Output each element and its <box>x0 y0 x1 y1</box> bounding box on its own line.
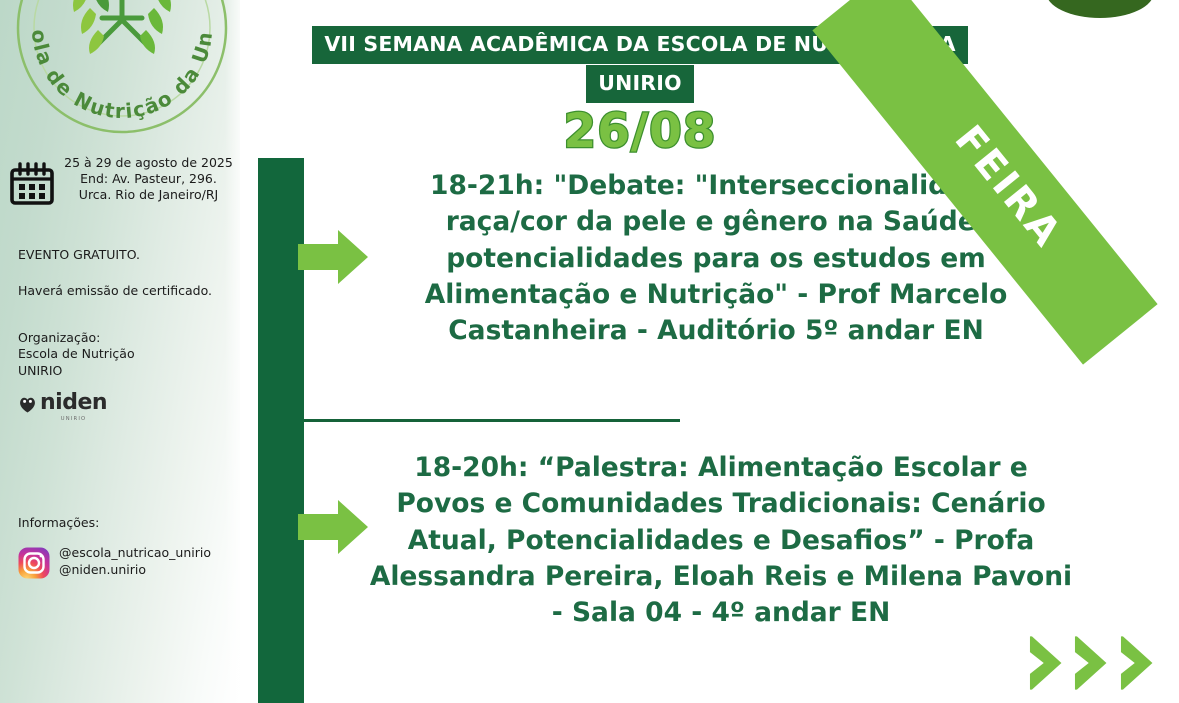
calendar-icon <box>8 161 56 209</box>
poster-canvas: Escola de Nutrição da Unirio <box>0 0 1179 703</box>
title-line-1: VII SEMANA ACADÊMICA DA ESCOLA DE NUTRIÇ… <box>312 26 967 64</box>
handle-escola: @escola_nutricao_unirio <box>59 545 211 560</box>
free-event-note: EVENTO GRATUITO. <box>18 247 228 263</box>
instagram-handles: @escola_nutricao_unirio @niden.unirio <box>59 545 211 578</box>
escola-nutricao-seal-icon: Escola de Nutrição da Unirio <box>6 0 238 144</box>
niden-logo: niden UNIRIO <box>18 392 107 422</box>
niden-wordmark: niden <box>40 392 107 414</box>
instagram-icon[interactable] <box>18 547 50 579</box>
date-range-line: 25 à 29 de agosto de 2025 <box>64 155 233 170</box>
organizer-line-2: UNIRIO <box>18 363 62 378</box>
niden-logo-icon <box>18 395 37 414</box>
handle-niden: @niden.unirio <box>59 562 146 577</box>
certificate-note: Haverá emissão de certificado. <box>18 283 228 299</box>
section-divider <box>304 419 680 422</box>
organizer-label: Organização: <box>18 330 100 345</box>
organizer-note: Organização: Escola de Nutrição UNIRIO <box>18 330 228 379</box>
niden-subtitle: UNIRIO <box>61 416 87 422</box>
date-headline: 26/08 <box>300 104 980 159</box>
event-text-1: 18-21h: "Debate: "Interseccionalidade ra… <box>366 168 1066 349</box>
instagram-contact[interactable]: @escola_nutricao_unirio @niden.unirio <box>18 545 211 579</box>
right-arrow-icon <box>298 498 368 556</box>
triple-chevron-right-icon <box>1028 634 1160 692</box>
title-line-2: UNIRIO <box>586 65 693 103</box>
page-title: VII SEMANA ACADÊMICA DA ESCOLA DE NUTRIÇ… <box>300 26 980 103</box>
organizer-line-1: Escola de Nutrição <box>18 346 135 361</box>
ribbon-dot-decoration <box>1046 0 1154 18</box>
address-line-1: End: Av. Pasteur, 296. <box>80 171 217 186</box>
event-date-block: 25 à 29 de agosto de 2025 End: Av. Paste… <box>8 155 233 209</box>
info-label: Informações: <box>18 515 99 530</box>
date-address-text: 25 à 29 de agosto de 2025 End: Av. Paste… <box>64 155 233 203</box>
address-line-2: Urca. Rio de Janeiro/RJ <box>79 187 218 202</box>
right-arrow-icon <box>298 228 368 286</box>
event-text-2: 18-20h: “Palestra: Alimentação Escolar e… <box>366 450 1076 631</box>
